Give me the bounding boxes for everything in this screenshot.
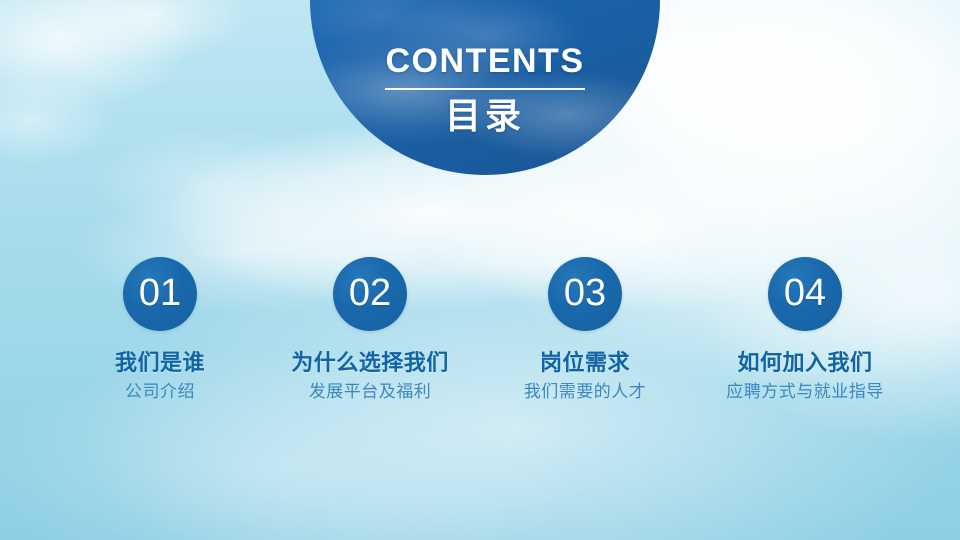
number-badge-01[interactable]: 01	[123, 257, 197, 331]
number-badge-03[interactable]: 03	[548, 257, 622, 331]
contents-title-en: CONTENTS	[310, 44, 660, 78]
item-title: 如何加入我们	[675, 351, 935, 375]
item-subtitle: 应聘方式与就业指导	[675, 383, 935, 402]
hero-title-block: CONTENTS 目录	[310, 0, 660, 135]
agenda-items-row: 01 我们是谁 公司介绍 02 为什么选择我们 发展平台及福利 03 岗位需求 …	[0, 255, 960, 415]
number-label: 03	[564, 274, 606, 315]
contents-slide: CONTENTS 目录 01 我们是谁 公司介绍 02 为什么选择我们 发展平台…	[0, 0, 960, 540]
title-divider	[385, 88, 585, 90]
contents-title-cn: 目录	[310, 97, 660, 135]
number-label: 02	[349, 274, 391, 315]
number-label: 01	[139, 274, 181, 315]
agenda-item-04[interactable]: 04 如何加入我们 应聘方式与就业指导	[675, 255, 935, 402]
number-badge-04[interactable]: 04	[768, 257, 842, 331]
number-badge-02[interactable]: 02	[333, 257, 407, 331]
number-label: 04	[784, 274, 826, 315]
